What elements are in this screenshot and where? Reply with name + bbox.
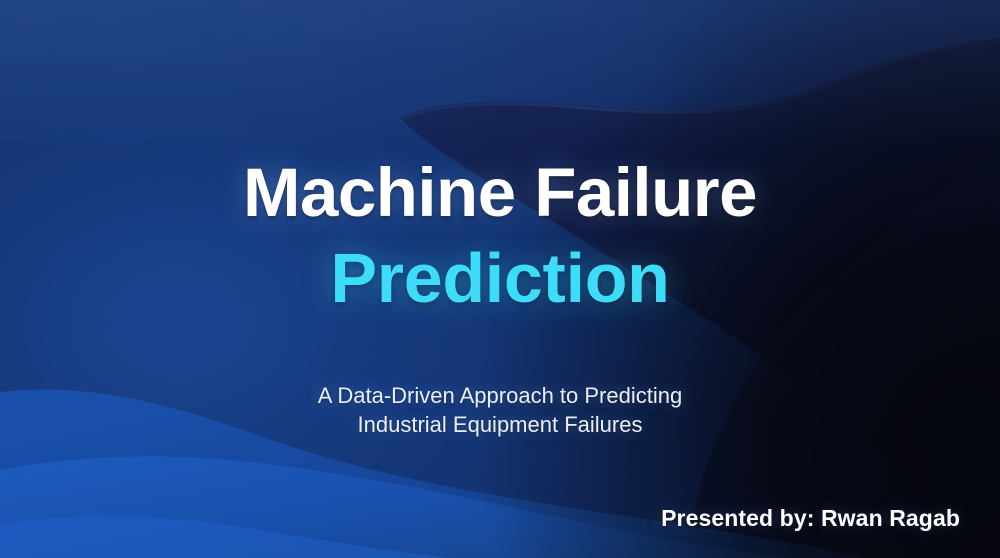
presenter-credit: Presented by: Rwan Ragab <box>661 505 960 532</box>
slide-content: Machine Failure Prediction A Data-Driven… <box>0 0 1000 558</box>
slide-subtitle-line-2: Industrial Equipment Failures <box>0 410 1000 439</box>
slide-title-accent: Prediction <box>0 243 1000 313</box>
title-slide: Machine Failure Prediction A Data-Driven… <box>0 0 1000 558</box>
slide-subtitle: A Data-Driven Approach to Predicting Ind… <box>0 381 1000 439</box>
slide-title-primary: Machine Failure <box>0 158 1000 227</box>
slide-subtitle-line-1: A Data-Driven Approach to Predicting <box>0 381 1000 410</box>
title-group: Machine Failure Prediction <box>0 158 1000 313</box>
